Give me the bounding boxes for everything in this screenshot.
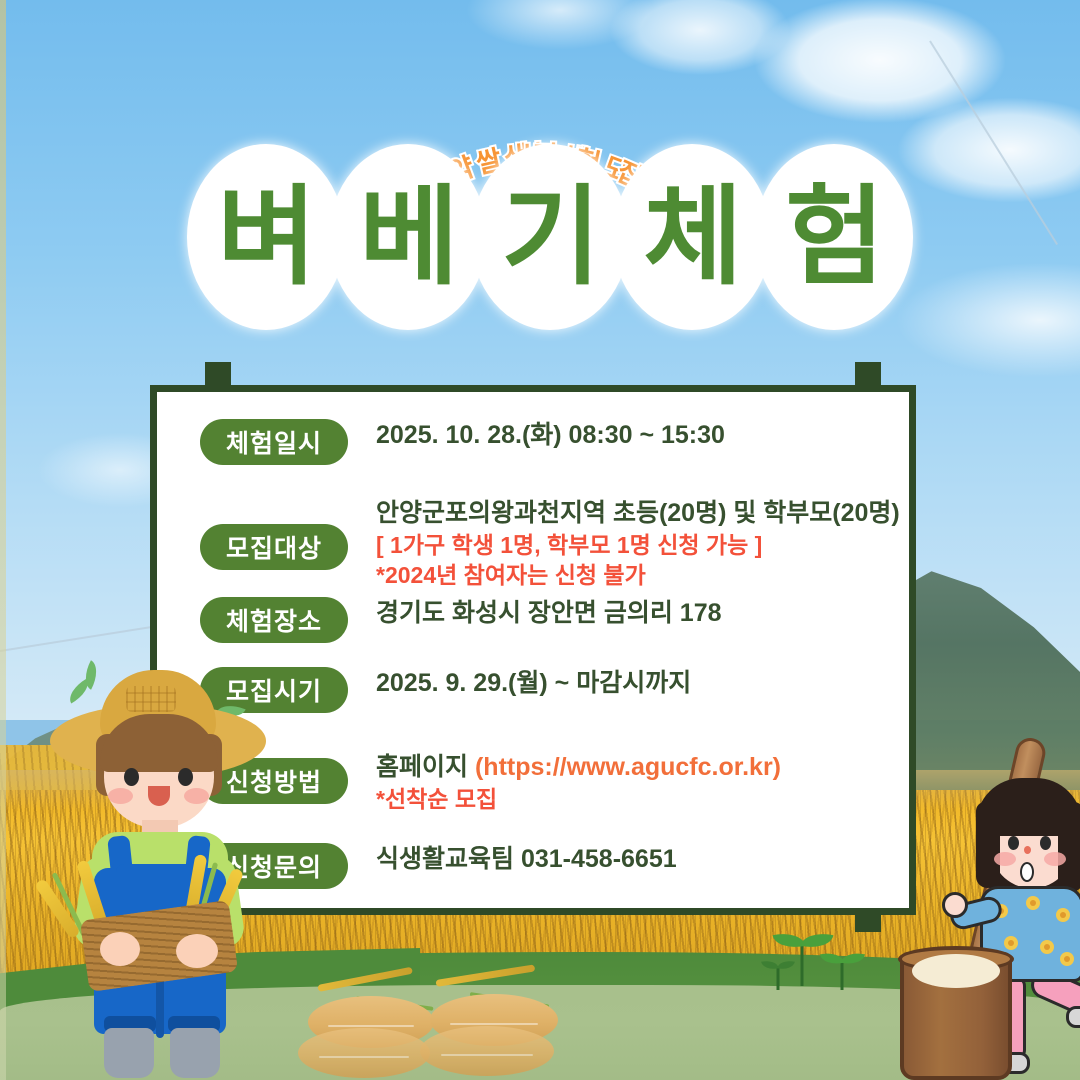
flower-pattern-icon	[1026, 896, 1040, 910]
girl-eye-left	[1008, 836, 1019, 850]
rice-pounding-girl-character	[900, 740, 1080, 1080]
title-char-badge-2: 베	[328, 143, 488, 331]
info-row-location: 체험장소 경기도 화성시 장안면 금의리 178	[200, 597, 722, 643]
straw-hat-texture	[126, 686, 176, 712]
row-value: 2025. 10. 28.(화) 08:30 ~ 15:30	[376, 419, 725, 452]
left-edge-strip	[0, 0, 6, 1080]
sprout-icon-large	[800, 932, 804, 984]
boy-eye-left	[124, 768, 139, 786]
row-value-line: 2025. 9. 29.(월) ~ 마감시까지	[376, 667, 691, 700]
row-value: 식생활교육팀 031-458-6651	[376, 843, 677, 876]
row-value-line: 경기도 화성시 장안면 금의리 178	[376, 597, 722, 630]
row-value-line: 홈페이지 (https://www.agucfc.or.kr)	[376, 751, 781, 784]
poster-root: 체험일시 2025. 10. 28.(화) 08:30 ~ 15:30 모집대상…	[0, 0, 1080, 1080]
info-row-apply-method: 신청방법 홈페이지 (https://www.agucfc.or.kr) *선착…	[200, 751, 781, 814]
rice-sack	[298, 1028, 430, 1078]
homepage-label: 홈페이지	[376, 753, 468, 781]
sprout-icon-medium	[840, 952, 844, 988]
sprout-icon-small	[776, 960, 780, 988]
girl-cheek-left	[994, 852, 1016, 866]
row-value-line: 안양군포의왕과천지역 초등(20명) 및 학부모(20명)	[376, 497, 900, 530]
girl-mouth	[1020, 862, 1034, 882]
boy-cheek-left	[108, 788, 133, 804]
row-value: 안양군포의왕과천지역 초등(20명) 및 학부모(20명) [ 1가구 학생 1…	[376, 497, 900, 591]
row-label-badge: 모집대상	[200, 524, 348, 570]
girl-nose	[1024, 846, 1031, 854]
girl-cheek-right	[1044, 852, 1066, 866]
row-value: 경기도 화성시 장안면 금의리 178	[376, 597, 722, 630]
row-value: 2025. 9. 29.(월) ~ 마감시까지	[376, 667, 691, 700]
title-char: 체	[643, 183, 740, 291]
title-char: 벼	[217, 183, 314, 291]
flower-pattern-icon	[1060, 952, 1074, 966]
info-row-experience-date: 체험일시 2025. 10. 28.(화) 08:30 ~ 15:30	[200, 419, 725, 465]
row-value-line-note: *2024년 참여자는 신청 불가	[376, 560, 900, 590]
boy-boot-left	[104, 1028, 154, 1078]
girl-shoe-right	[1066, 1006, 1080, 1028]
girl-hair-right	[1058, 802, 1080, 892]
title-char-badge-5: 험	[754, 143, 914, 331]
girl-hand	[942, 892, 968, 918]
info-row-target: 모집대상 안양군포의왕과천지역 초등(20명) 및 학부모(20명) [ 1가구…	[200, 497, 900, 591]
row-value-line: 2025. 10. 28.(화) 08:30 ~ 15:30	[376, 419, 725, 452]
row-value-line-note: *선착순 모집	[376, 784, 781, 814]
girl-eye-right	[1040, 836, 1051, 850]
title-char: 베	[359, 183, 456, 291]
title-char: 험	[785, 183, 882, 291]
boy-boot-right	[170, 1028, 220, 1078]
row-value-line-note: [ 1가구 학생 1명, 학부모 1명 신청 가능 ]	[376, 530, 900, 560]
boy-hand-left	[100, 932, 140, 966]
title-char: 기	[501, 183, 598, 291]
farmer-boy-character	[48, 660, 278, 1080]
row-label-badge: 체험일시	[200, 419, 348, 465]
rice-cake-dough	[912, 954, 1000, 988]
boy-hand-right	[176, 934, 218, 968]
row-value-line: 식생활교육팀 031-458-6651	[376, 843, 677, 876]
flower-pattern-icon	[1004, 936, 1018, 950]
row-label-badge: 체험장소	[200, 597, 348, 643]
main-title: 벼베기체험	[150, 142, 950, 332]
rice-sack	[420, 1026, 554, 1076]
flower-pattern-icon	[1056, 908, 1070, 922]
title-char-badge-3: 기	[470, 143, 630, 331]
boy-cheek-right	[184, 788, 209, 804]
flower-pattern-icon	[1040, 940, 1054, 954]
homepage-url-link[interactable]: (https://www.agucfc.or.kr)	[475, 753, 781, 781]
title-char-badge-1: 벼	[186, 143, 346, 331]
row-value: 홈페이지 (https://www.agucfc.or.kr) *선착순 모집	[376, 751, 781, 814]
title-char-badge-4: 체	[612, 143, 772, 331]
boy-eye-right	[178, 768, 193, 786]
girl-hair-left	[976, 802, 1000, 888]
